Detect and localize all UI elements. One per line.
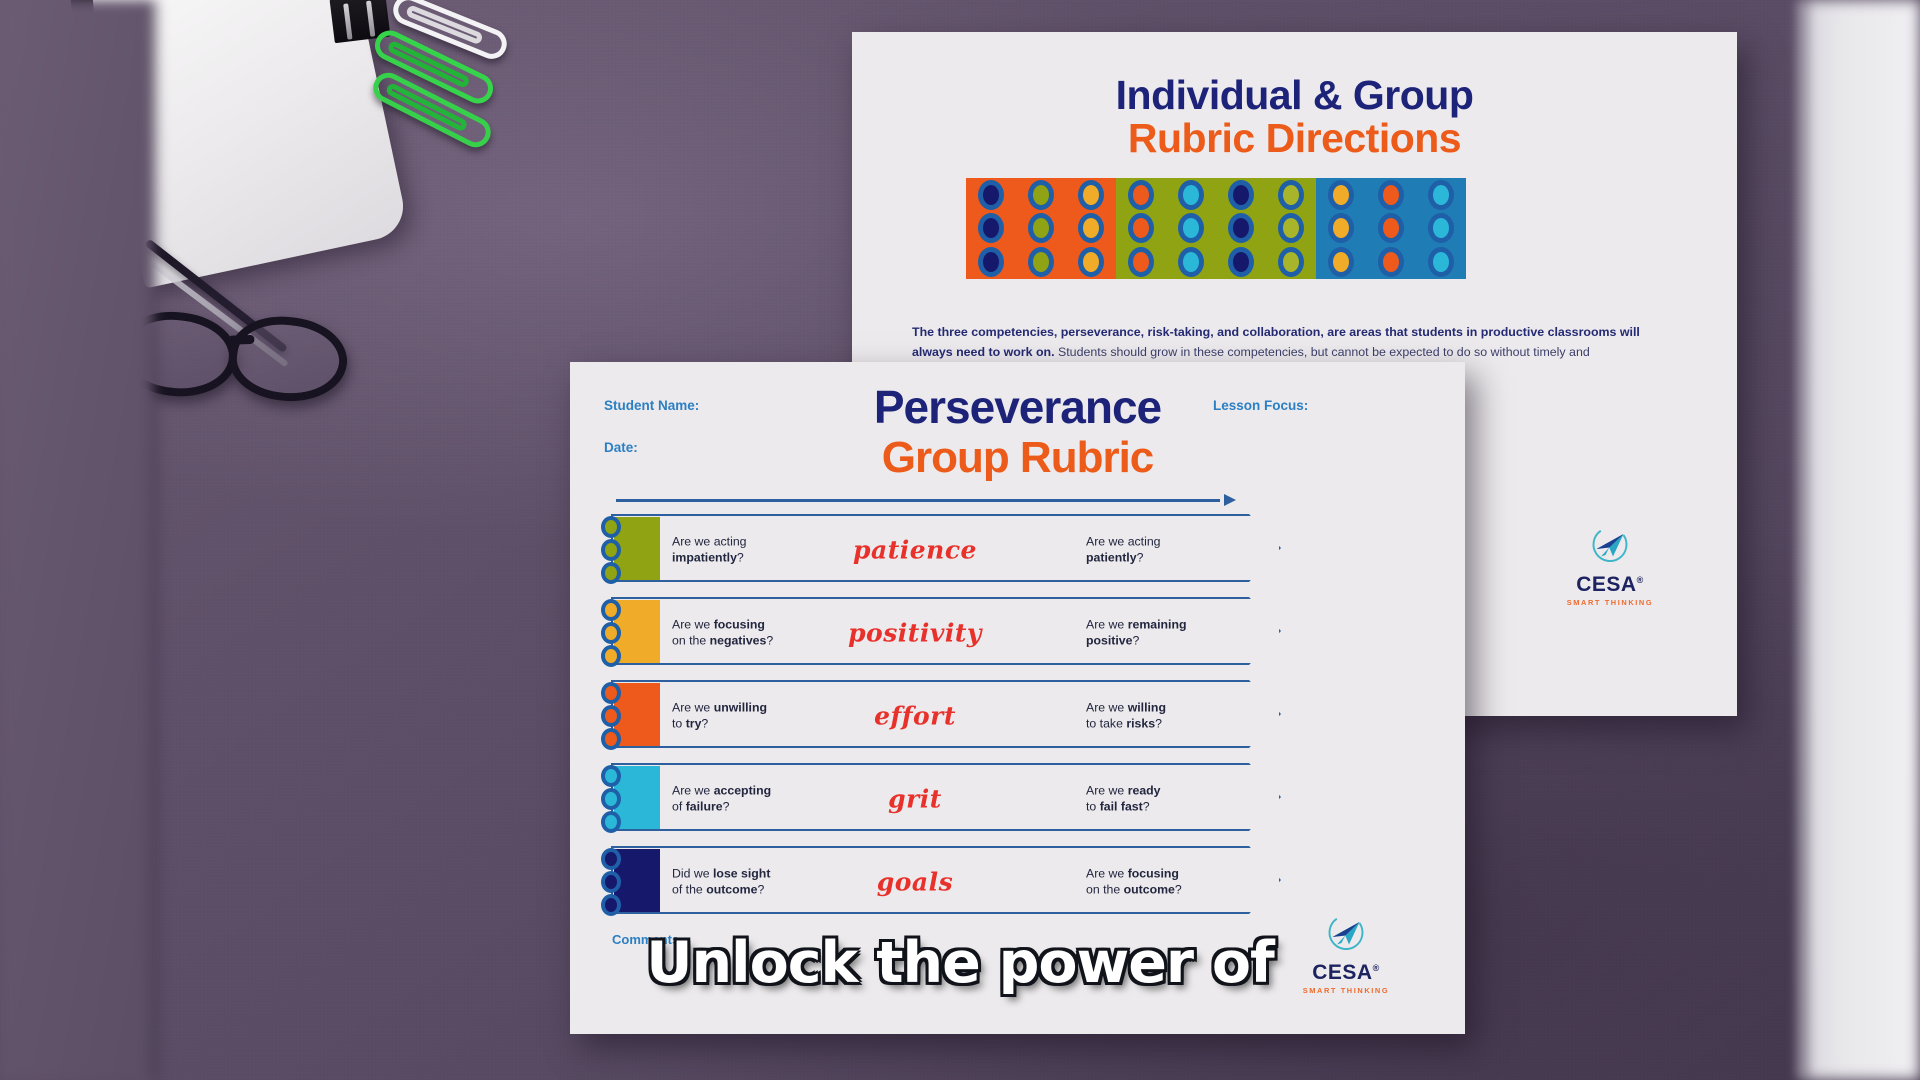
- colorbar-dot-icon: [1128, 213, 1154, 243]
- colorbar-dot-icon: [1228, 213, 1254, 243]
- colorbar-dot-icon: [1378, 247, 1404, 277]
- rubric-row[interactable]: Are we unwillingto try?Are we willingto …: [600, 680, 1300, 752]
- front-title-line2: Group Rubric: [570, 436, 1465, 480]
- colorbar-dot-icon: [1078, 180, 1104, 210]
- rubric-rating-dot-icon[interactable]: [601, 516, 621, 538]
- rubric-rating-dot-icon[interactable]: [601, 811, 621, 833]
- rubric-keyword: grit: [600, 785, 1300, 814]
- colorbar-dot-icon: [1028, 180, 1054, 210]
- colorbar-dot-icon: [1328, 247, 1354, 277]
- arrow-head: [1224, 494, 1236, 506]
- colorbar-dot-icon: [978, 213, 1004, 243]
- colorbar-column-2-2: [1416, 178, 1466, 279]
- rubric-rating-dots[interactable]: [600, 848, 622, 916]
- back-title-line2: Rubric Directions: [852, 117, 1737, 160]
- colorbar-dot-icon: [1128, 247, 1154, 277]
- colorbar-dot-icon: [1028, 247, 1054, 277]
- colorbar-dot-icon: [1428, 180, 1454, 210]
- colorbar-block-0: [966, 178, 1116, 279]
- colorbar-dot-icon: [1178, 247, 1204, 277]
- rubric-rating-dot-icon[interactable]: [601, 848, 621, 870]
- progression-arrow-icon: [616, 494, 1236, 506]
- rubric-rating-dot-icon[interactable]: [601, 539, 621, 561]
- rubric-rating-dot-icon[interactable]: [601, 562, 621, 584]
- rubric-keyword: patience: [600, 536, 1300, 565]
- rubric-rating-dot-icon[interactable]: [601, 728, 621, 750]
- rubric-row[interactable]: Are we focusingon the negatives?Are we r…: [600, 597, 1300, 669]
- rubric-keyword: goals: [600, 868, 1300, 897]
- back-paragraph-1: The three competencies, perseverance, ri…: [912, 322, 1674, 363]
- eyeglasses-lens-right: [224, 309, 353, 409]
- rubric-row[interactable]: Are we acceptingof failure?Are we readyt…: [600, 763, 1300, 835]
- colorbar-dot-icon: [1328, 213, 1354, 243]
- colorbar-dot-icon: [1078, 247, 1104, 277]
- rubric-rating-dot-icon[interactable]: [601, 682, 621, 704]
- colorbar-dot-icon: [1078, 213, 1104, 243]
- colorbar-dot-icon: [1378, 180, 1404, 210]
- back-paragraph-1-rest: Students should grow in these competenci…: [1055, 345, 1590, 359]
- colorbar-dot-icon: [1278, 247, 1304, 277]
- colorbar-column-0-2: [1066, 178, 1116, 279]
- rubric-row[interactable]: Did we lose sightof the outcome?Are we f…: [600, 846, 1300, 918]
- colorbar-dot-icon: [1028, 213, 1054, 243]
- colorbar-dot-icon: [1428, 213, 1454, 243]
- colorbar-column-0-1: [1016, 178, 1066, 279]
- colorbar-dot-icon: [1178, 180, 1204, 210]
- rubric-rating-dot-icon[interactable]: [601, 765, 621, 787]
- colorbar-dot-icon: [978, 180, 1004, 210]
- rubric-keyword: effort: [600, 702, 1300, 731]
- rubric-keyword: positivity: [600, 619, 1300, 648]
- rubric-row-list: Are we actingimpatiently?Are we actingpa…: [600, 514, 1300, 929]
- rubric-rating-dot-icon[interactable]: [601, 894, 621, 916]
- rubric-rating-dots[interactable]: [600, 765, 622, 833]
- rubric-rating-dot-icon[interactable]: [601, 645, 621, 667]
- scene: Individual & Group Rubric Directions The…: [0, 0, 1920, 1080]
- colorbar-column-2-0: [1316, 178, 1366, 279]
- cesa-logo-name: CESA®: [1562, 573, 1658, 597]
- colorbar-column-1-1: [1166, 178, 1216, 279]
- decorative-colorbar: [966, 178, 1466, 279]
- colorbar-dot-icon: [1328, 180, 1354, 210]
- left-blur-band: [0, 0, 153, 1080]
- colorbar-dot-icon: [1128, 180, 1154, 210]
- rubric-rating-dots[interactable]: [600, 516, 622, 584]
- front-title-line1: Perseverance: [570, 384, 1465, 430]
- colorbar-dot-icon: [1278, 180, 1304, 210]
- cesa-logo: CESA® SMART THINKING: [1562, 522, 1658, 607]
- colorbar-dot-icon: [1378, 213, 1404, 243]
- front-document-title: Perseverance Group Rubric: [570, 384, 1465, 480]
- colorbar-column-2-1: [1366, 178, 1416, 279]
- rubric-rating-dot-icon[interactable]: [601, 788, 621, 810]
- eyeglasses-bridge: [228, 335, 254, 345]
- colorbar-dot-icon: [1428, 247, 1454, 277]
- colorbar-dot-icon: [1228, 180, 1254, 210]
- colorbar-column-1-2: [1216, 178, 1266, 279]
- front-document-header: Student Name: Date: Lesson Focus: Persev…: [570, 362, 1465, 458]
- colorbar-dot-icon: [1178, 213, 1204, 243]
- rubric-rating-dot-icon[interactable]: [601, 622, 621, 644]
- video-caption: Unlock the power of: [0, 930, 1920, 996]
- rubric-rating-dots[interactable]: [600, 599, 622, 667]
- back-document-title: Individual & Group Rubric Directions: [852, 32, 1737, 159]
- colorbar-dot-icon: [978, 247, 1004, 277]
- rubric-rating-dot-icon[interactable]: [601, 599, 621, 621]
- arrow-line: [616, 499, 1220, 502]
- right-blur-edge: [1793, 0, 1805, 1080]
- colorbar-dot-icon: [1228, 247, 1254, 277]
- right-blur-band: [1805, 0, 1920, 1080]
- colorbar-column-1-0: [1116, 178, 1166, 279]
- colorbar-dot-icon: [1278, 213, 1304, 243]
- back-title-line1: Individual & Group: [852, 74, 1737, 117]
- rubric-rating-dot-icon[interactable]: [601, 871, 621, 893]
- cesa-logo-tagline: SMART THINKING: [1562, 598, 1658, 607]
- colorbar-block-2: [1316, 178, 1466, 279]
- colorbar-block-1: [1116, 178, 1316, 279]
- colorbar-column-0-0: [966, 178, 1016, 279]
- rubric-rating-dot-icon[interactable]: [601, 705, 621, 727]
- rubric-row[interactable]: Are we actingimpatiently?Are we actingpa…: [600, 514, 1300, 586]
- rubric-rating-dots[interactable]: [600, 682, 622, 750]
- colorbar-column-1-3: [1266, 178, 1316, 279]
- paper-plane-icon: [1586, 522, 1634, 570]
